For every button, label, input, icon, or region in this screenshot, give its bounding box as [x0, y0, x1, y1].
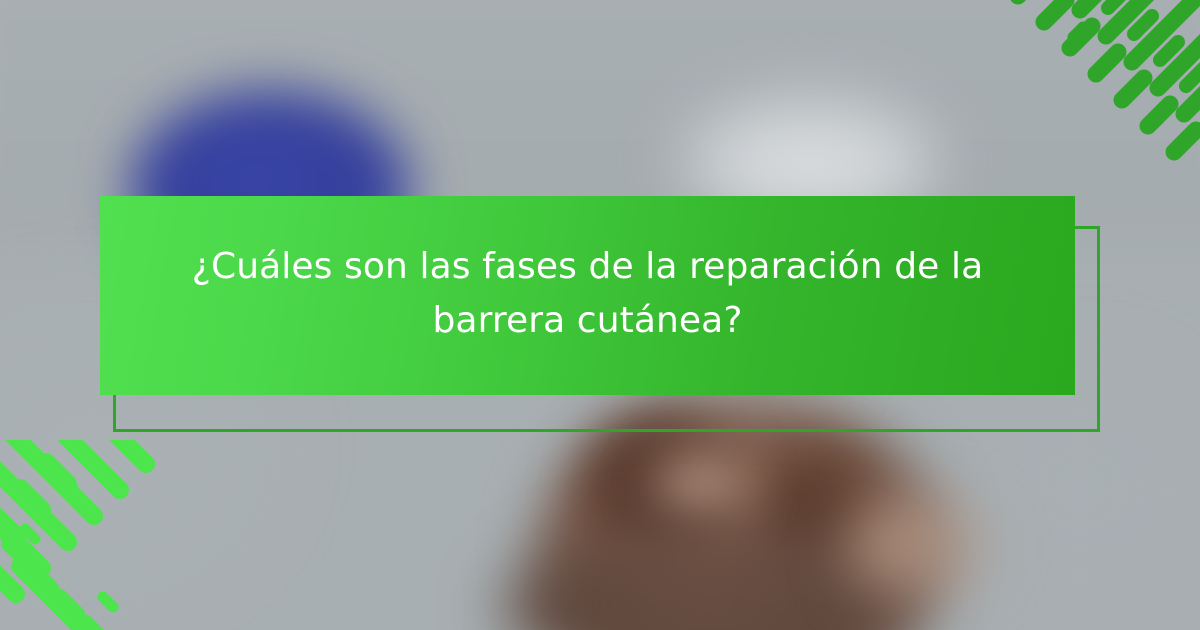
background-blob-skin-highlight [640, 440, 760, 530]
title-banner: ¿Cuáles son las fases de la reparación d… [100, 196, 1075, 395]
share-card: ¿Cuáles son las fases de la reparación d… [0, 0, 1200, 630]
background-blob-skin-far-right [840, 485, 1000, 615]
page-title: ¿Cuáles son las fases de la reparación d… [146, 240, 1029, 348]
